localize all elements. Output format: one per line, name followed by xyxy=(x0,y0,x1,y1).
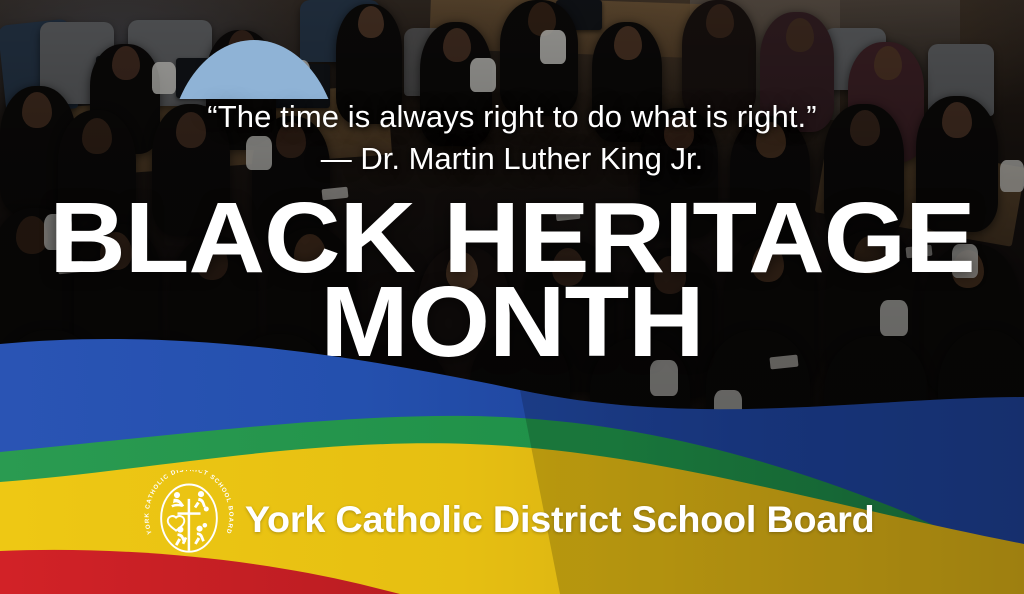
ycdsb-logo-icon: YORK CATHOLIC DISTRICT SCHOOL BOARD xyxy=(141,470,237,570)
office-chair xyxy=(300,0,380,62)
raised-fist-shirt-graphic xyxy=(152,62,176,94)
office-chair xyxy=(404,28,470,96)
brand-lockup: YORK CATHOLIC DISTRICT SCHOOL BOARD York… xyxy=(141,470,868,570)
office-chair xyxy=(40,22,114,104)
boardroom-desk xyxy=(429,0,731,59)
person-face xyxy=(528,2,556,36)
desk-monitor xyxy=(96,56,148,94)
quote-attribution: — Dr. Martin Luther King Jr. xyxy=(0,137,1024,181)
quote-text: “The time is always right to do what is … xyxy=(0,97,1024,137)
person-face xyxy=(706,4,734,38)
organization-name: York Catholic District School Board xyxy=(245,499,875,541)
raised-fist-shirt-graphic xyxy=(470,58,496,92)
person-face xyxy=(874,46,902,80)
desk-monitor xyxy=(556,0,602,30)
room-wall-column xyxy=(840,0,960,90)
person-face xyxy=(786,18,814,52)
person-face xyxy=(443,28,471,62)
quote-block: “The time is always right to do what is … xyxy=(0,97,1024,181)
office-chair xyxy=(824,28,886,90)
person-face xyxy=(112,46,140,80)
person-face xyxy=(614,26,642,60)
raised-fist-shirt-graphic xyxy=(540,30,566,64)
person-face xyxy=(358,6,384,38)
black-heritage-month-banner: “The time is always right to do what is … xyxy=(0,0,1024,594)
desk-monitor xyxy=(352,54,396,90)
